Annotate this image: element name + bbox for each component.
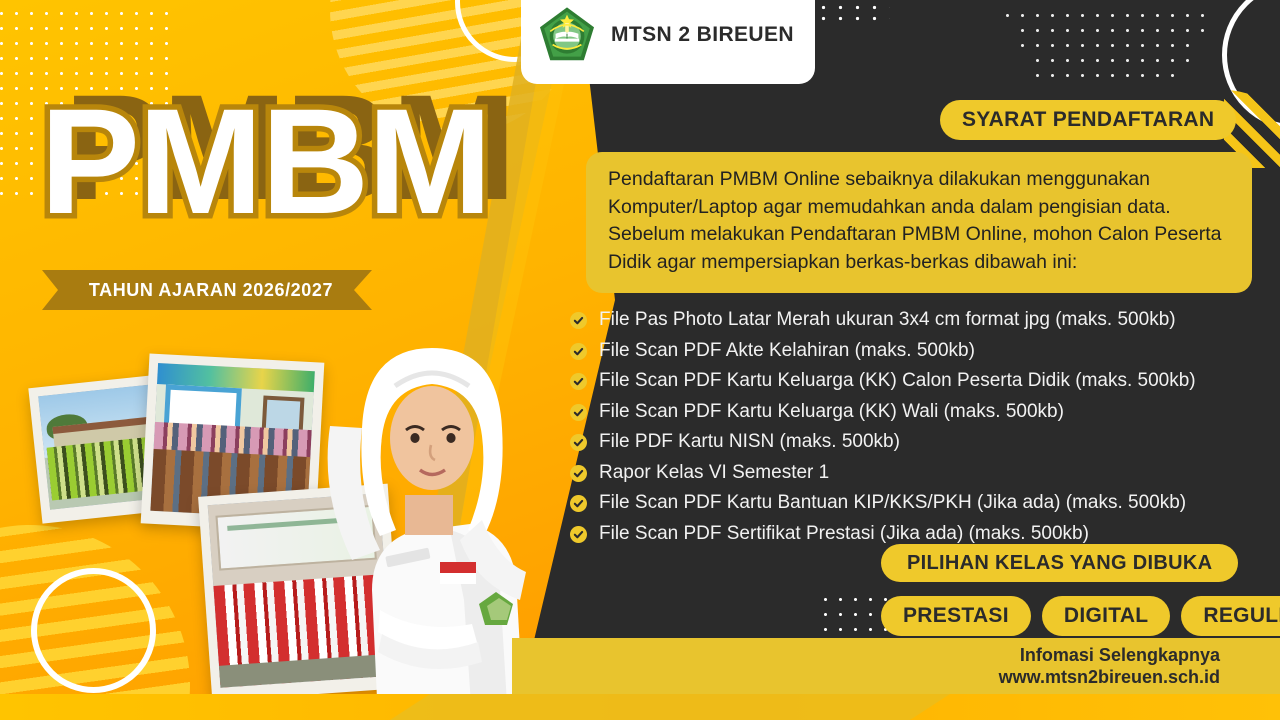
check-circle-icon: [570, 526, 587, 543]
bottom-strip-slant: [390, 694, 950, 720]
list-item: Rapor Kelas VI Semester 1: [570, 461, 1270, 485]
footer-website-url[interactable]: www.mtsn2bireuen.sch.id: [999, 667, 1220, 689]
check-circle-icon: [570, 404, 587, 421]
status-badge-requirements: SYARAT PENDAFTARAN: [940, 100, 1236, 140]
classes-heading-label: PILIHAN KELAS YANG DIBUKA: [907, 552, 1212, 575]
check-circle-icon: [570, 312, 587, 329]
list-item: File Scan PDF Sertifikat Prestasi (Jika …: [570, 522, 1270, 546]
requirements-badge-label: SYARAT PENDAFTARAN: [962, 108, 1214, 132]
list-item-label: File Scan PDF Kartu Bantuan KIP/KKS/PKH …: [599, 491, 1186, 515]
class-option-prestasi[interactable]: PRESTASI: [881, 596, 1031, 636]
check-circle-icon: [570, 434, 587, 451]
classes-heading-badge: PILIHAN KELAS YANG DIBUKA: [881, 544, 1238, 582]
list-item-label: Rapor Kelas VI Semester 1: [599, 461, 829, 485]
class-option-digital[interactable]: DIGITAL: [1042, 596, 1171, 636]
requirements-intro-text: Pendaftaran PMBM Online sebaiknya dilaku…: [608, 166, 1230, 277]
check-circle-icon: [570, 465, 587, 482]
class-option-reguler[interactable]: REGULER: [1181, 596, 1280, 636]
class-option-label: DIGITAL: [1064, 604, 1149, 628]
list-item-label: File Scan PDF Kartu Keluarga (KK) Wali (…: [599, 400, 1064, 424]
check-circle-icon: [570, 495, 587, 512]
list-item-label: File Scan PDF Akte Kelahiran (maks. 500k…: [599, 339, 975, 363]
academic-year-label: TAHUN AJARAN 2026/2027: [81, 280, 333, 301]
list-item: File Scan PDF Kartu Keluarga (KK) Wali (…: [570, 400, 1270, 424]
requirements-list: File Pas Photo Latar Merah ukuran 3x4 cm…: [570, 308, 1270, 552]
class-option-label: PRESTASI: [903, 604, 1009, 628]
class-option-label: REGULER: [1203, 604, 1280, 628]
list-item-label: File Scan PDF Sertifikat Prestasi (Jika …: [599, 522, 1089, 546]
list-item: File PDF Kartu NISN (maks. 500kb): [570, 430, 1270, 454]
page-title: PMBM PMBM: [40, 92, 490, 230]
class-options-row: PRESTASI DIGITAL REGULER: [881, 596, 1280, 636]
list-item: File Pas Photo Latar Merah ukuran 3x4 cm…: [570, 308, 1270, 332]
poster-root: MTSN 2 BIREUEN PMBM PMBM TAHUN AJARAN 20…: [0, 0, 1280, 720]
list-item-label: File PDF Kartu NISN (maks. 500kb): [599, 430, 900, 454]
list-item: File Scan PDF Kartu Bantuan KIP/KKS/PKH …: [570, 491, 1270, 515]
requirements-intro-box: Pendaftaran PMBM Online sebaiknya dilaku…: [586, 152, 1252, 293]
footer-info-band: Infomasi Selengkapnya www.mtsn2bireuen.s…: [512, 638, 1280, 696]
brand-card[interactable]: MTSN 2 BIREUEN: [521, 0, 815, 84]
list-item-label: File Scan PDF Kartu Keluarga (KK) Calon …: [599, 369, 1196, 393]
school-name: MTSN 2 BIREUEN: [611, 23, 794, 47]
list-item: File Scan PDF Akte Kelahiran (maks. 500k…: [570, 339, 1270, 363]
check-circle-icon: [570, 373, 587, 390]
circle-outline-bottom-left: [31, 568, 156, 693]
check-circle-icon: [570, 343, 587, 360]
bottom-strip: [0, 694, 1280, 720]
list-item: File Scan PDF Kartu Keluarga (KK) Calon …: [570, 369, 1270, 393]
title-front-layer: PMBM: [40, 77, 490, 245]
footer-info-line: Infomasi Selengkapnya: [1020, 645, 1220, 667]
school-emblem-icon: [537, 5, 597, 65]
list-item-label: File Pas Photo Latar Merah ukuran 3x4 cm…: [599, 308, 1176, 332]
